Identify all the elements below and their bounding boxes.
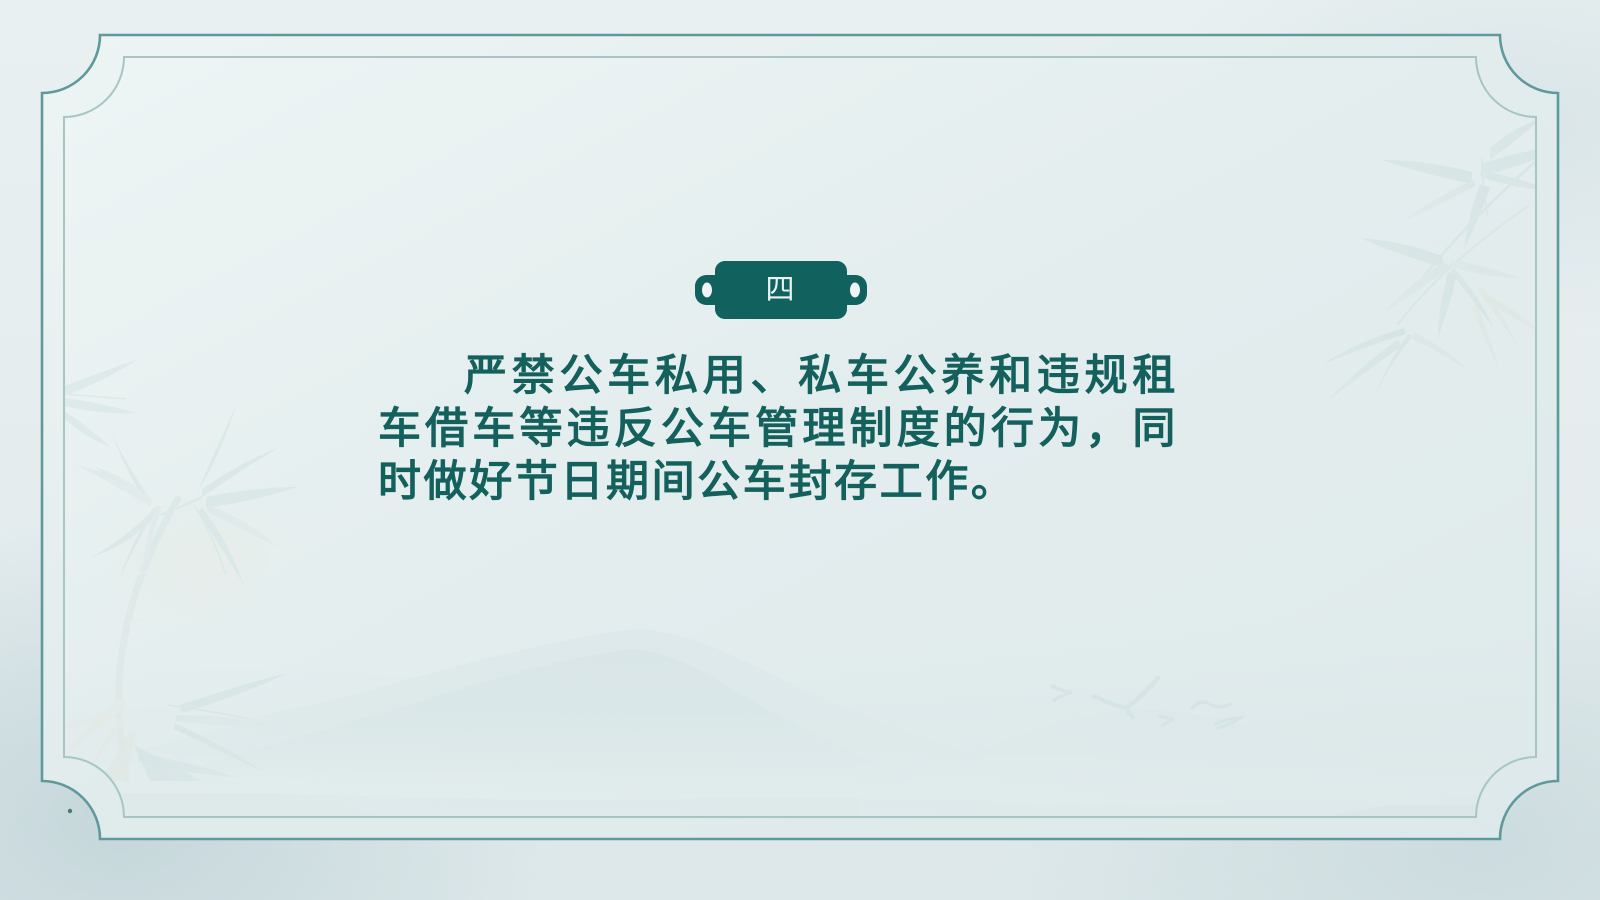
slide-canvas: 四 严禁公车私用、私车公养和违规租车借车等违反公车管理制度的行为，同时做好节日期… [0,0,1600,900]
badge-label: 四 [685,261,877,319]
section-number-badge: 四 [685,261,877,319]
decorative-frame: 四 严禁公车私用、私车公养和违规租车借车等违反公车管理制度的行为，同时做好节日期… [40,33,1560,841]
body-paragraph: 严禁公车私用、私车公养和违规租车借车等违反公车管理制度的行为，同时做好节日期间公… [378,350,1178,509]
